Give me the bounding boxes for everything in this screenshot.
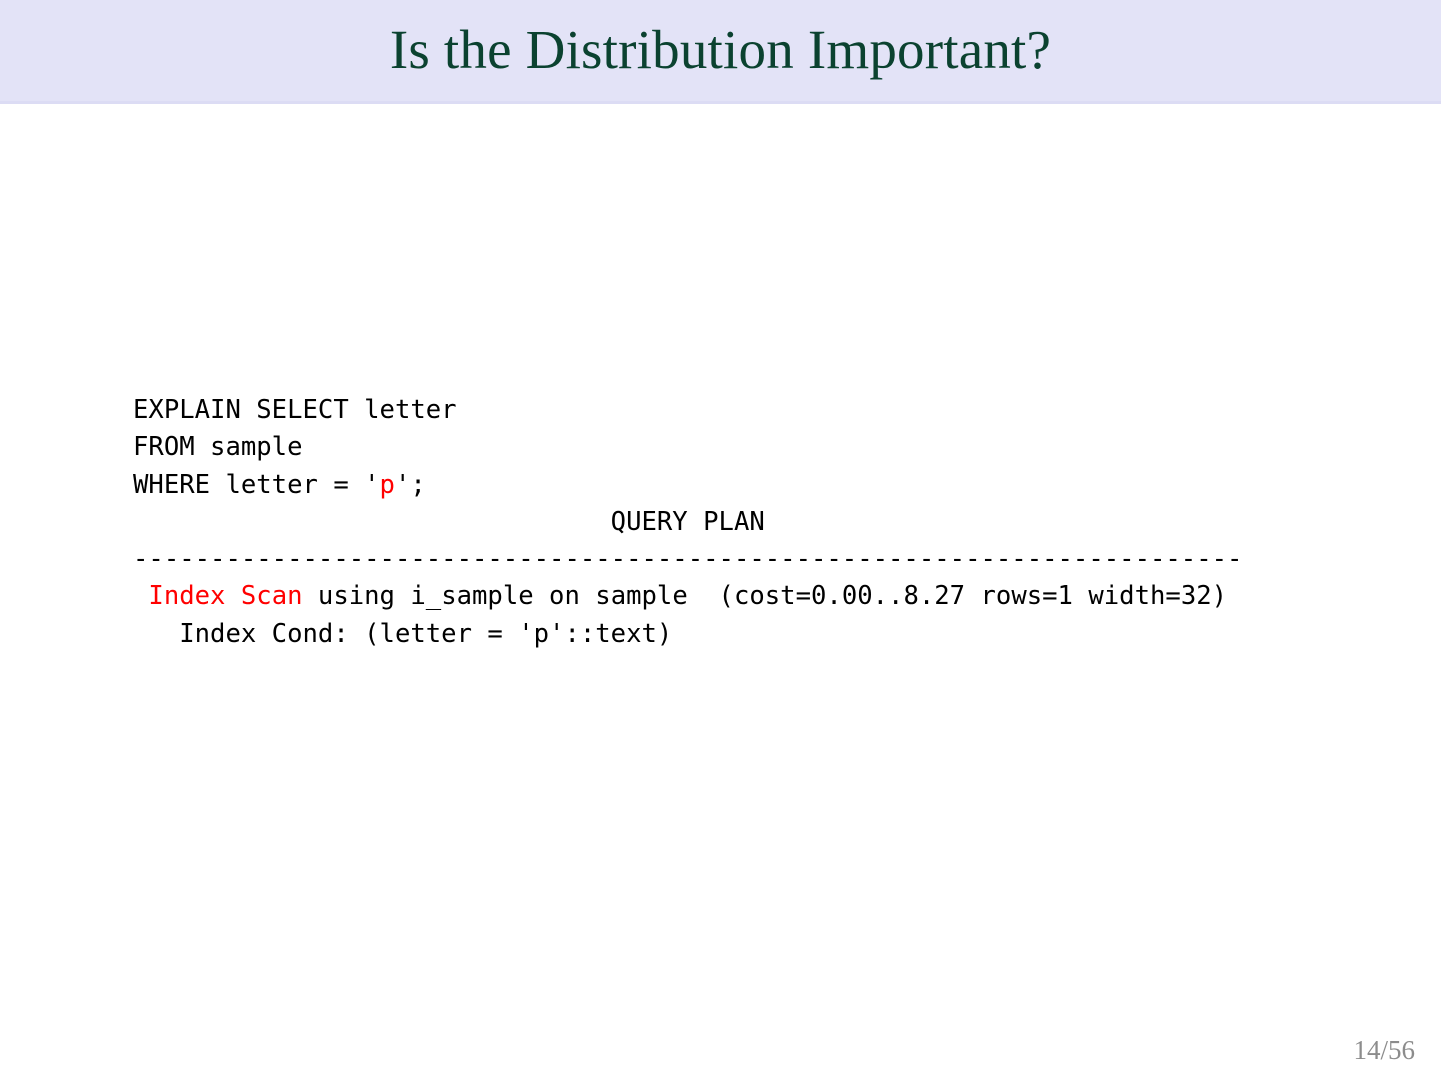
code-token: WHERE letter = ' (133, 470, 380, 500)
plan-header: QUERY PLAN (133, 504, 1242, 541)
code-token: Index Cond: (letter = 'p'::text) (133, 619, 672, 649)
explain-output-code-block: EXPLAIN SELECT letterFROM sampleWHERE le… (133, 392, 1242, 653)
page-indicator: 14/56 (1353, 1035, 1415, 1065)
plan-node-1-cond: Index Cond: (letter = 'p'::text) (133, 616, 1242, 653)
page-title: Is the Distribution Important? (0, 18, 1441, 82)
sql-line-3: WHERE letter = 'p'; (133, 467, 1242, 504)
plan-rule: ----------------------------------------… (133, 541, 1242, 578)
sql-line-1: EXPLAIN SELECT letter (133, 392, 1242, 429)
slide: Is the Distribution Important? EXPLAIN S… (0, 0, 1441, 1081)
code-token: QUERY PLAN (133, 507, 765, 537)
code-token: using i_sample on sample (cost=0.00..8.2… (303, 581, 1228, 611)
sql-line-2: FROM sample (133, 429, 1242, 466)
highlighted-token: Index Scan (148, 581, 302, 611)
code-token: '; (395, 470, 426, 500)
code-token: EXPLAIN SELECT letter (133, 395, 457, 425)
code-token: ----------------------------------------… (133, 544, 1242, 574)
plan-node-1: Index Scan using i_sample on sample (cos… (133, 578, 1242, 615)
code-token: FROM sample (133, 432, 303, 462)
slide-title-band: Is the Distribution Important? (0, 0, 1441, 104)
highlighted-token: p (380, 470, 395, 500)
code-token (133, 581, 148, 611)
